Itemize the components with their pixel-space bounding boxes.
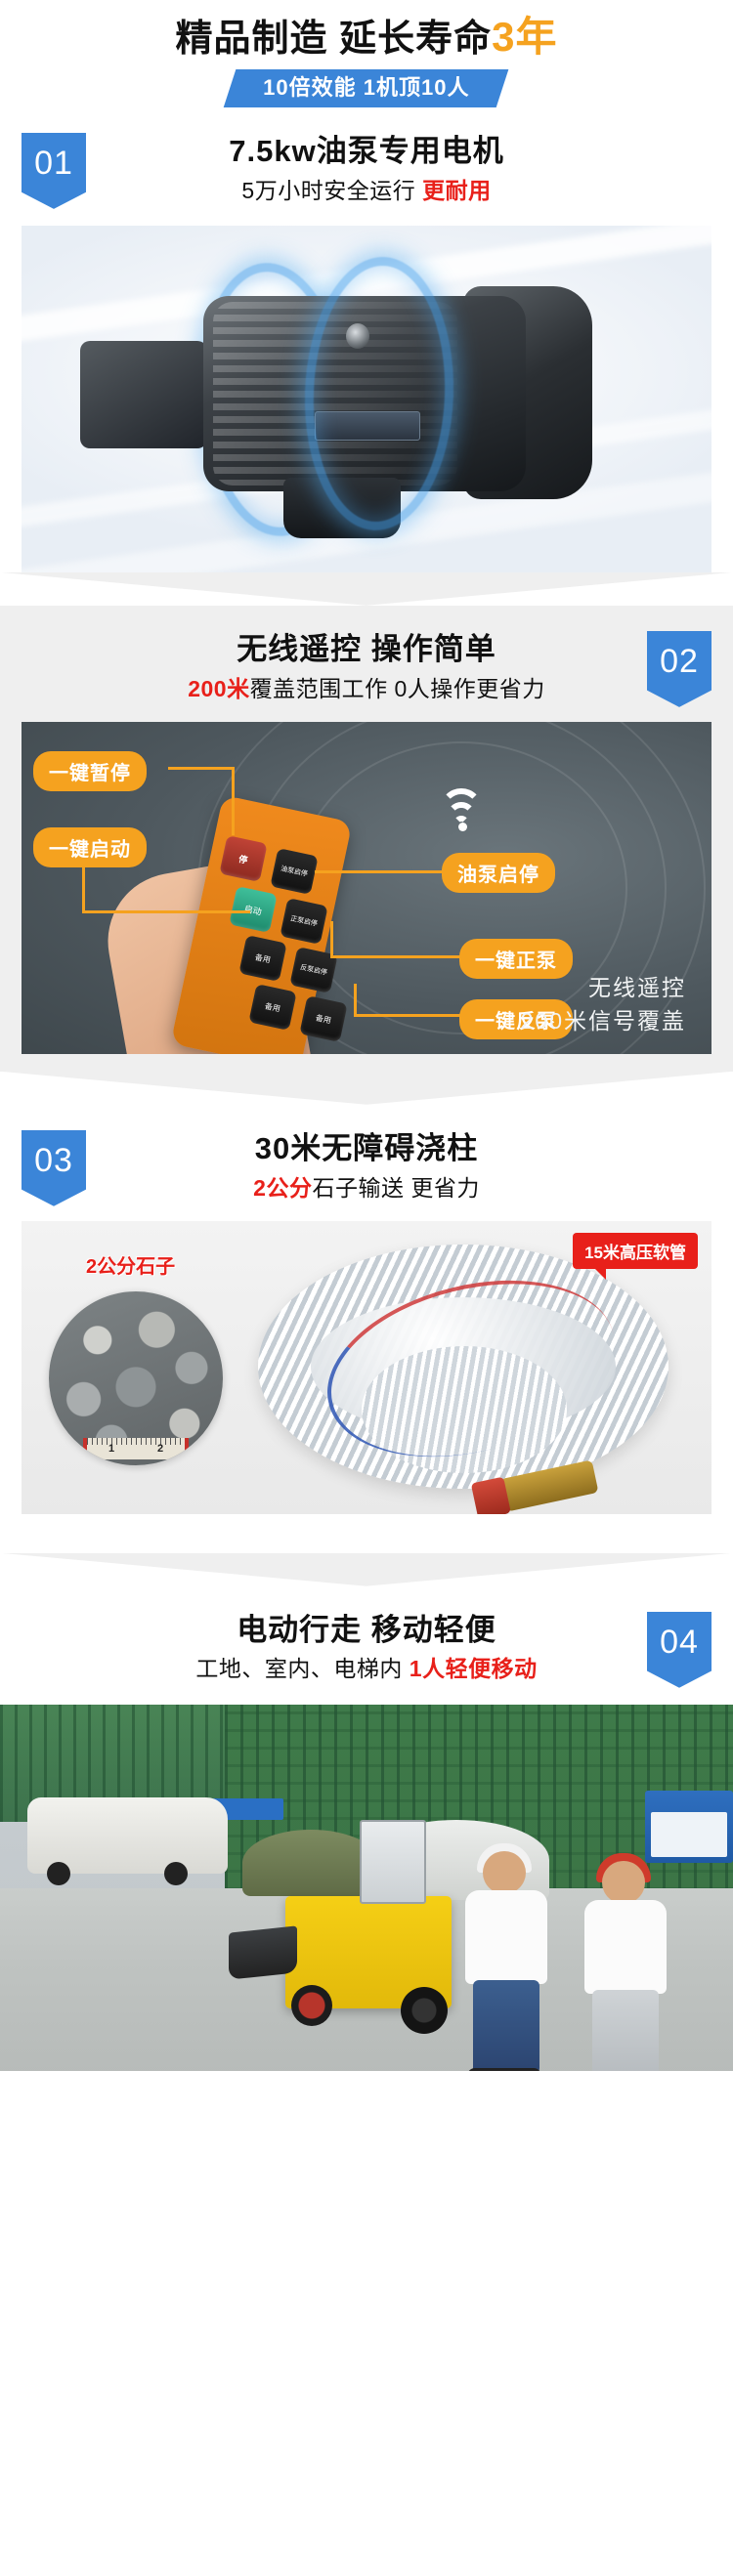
worker-operator <box>459 1851 553 2071</box>
remote-button-pump-toggle[interactable]: 油泵启停 <box>270 848 318 895</box>
section-divider-chevron <box>0 1072 733 1105</box>
worker-torso <box>584 1900 667 1994</box>
callout-lead-line <box>82 910 250 913</box>
motor-pump-head <box>80 341 207 448</box>
section-01-head: 01 7.5kw油泵专用电机 5万小时安全运行 更耐用 <box>0 107 733 220</box>
pump-wheel <box>401 1987 448 2034</box>
worker-head <box>602 1861 645 1904</box>
callout-lead-line <box>168 767 235 770</box>
motor-photo <box>22 226 711 572</box>
section-03-heading: 30米无障碍浇柱 <box>0 1130 733 1168</box>
hose-callout-badge: 15米高压软管 <box>573 1233 698 1269</box>
section-02: 02 无线遥控 操作简单 200米覆盖范围工作 0人操作更省力 停 油泵启停 启… <box>0 606 733 1072</box>
section-02-subheading: 200米覆盖范围工作 0人操作更省力 <box>0 673 733 704</box>
remote-button-spare-1[interactable]: 备用 <box>238 935 286 982</box>
section-02-sub-red: 200米 <box>188 676 249 701</box>
callout-lead-line <box>354 1014 463 1017</box>
callout-lead-line <box>330 955 461 958</box>
section-01-sub-red: 更耐用 <box>422 178 492 203</box>
covered-vehicle-green <box>242 1830 379 1896</box>
callout-lead-line <box>82 866 85 913</box>
section-01-sub-prefix: 5万小时安全运行 <box>241 178 422 203</box>
page-title: 精品制造 延长寿命3年 <box>0 14 733 62</box>
safety-sign-board <box>645 1791 733 1863</box>
section-03-subheading: 2公分石子输送 更省力 <box>0 1172 733 1204</box>
gravel-label: 2公分石子 <box>86 1250 175 1279</box>
section-01-heading: 7.5kw油泵专用电机 <box>0 133 733 171</box>
worker-bystander <box>579 1861 672 2071</box>
page-title-main: 精品制造 延长寿命 <box>176 19 493 60</box>
remote-overlay-line-1: 无线遥控 <box>521 971 686 1005</box>
section-01: 01 7.5kw油泵专用电机 5万小时安全运行 更耐用 <box>0 107 733 572</box>
section-02-heading: 无线遥控 操作简单 <box>0 631 733 669</box>
section-04-subheading: 工地、室内、电梯内 1人轻便移动 <box>0 1653 733 1684</box>
wifi-signal-icon <box>440 782 495 831</box>
callout-lead-line <box>330 921 333 958</box>
callout-pause: 一键暂停 <box>33 751 147 791</box>
section-04-heading: 电动行走 移动轻便 <box>0 1612 733 1650</box>
remote-button-start[interactable]: 启动 <box>229 886 277 933</box>
remote-button-spare-2[interactable]: 备用 <box>248 984 296 1031</box>
section-02-head: 02 无线遥控 操作简单 200米覆盖范围工作 0人操作更省力 <box>0 606 733 718</box>
callout-lead-line <box>232 767 235 835</box>
page-title-accent: 3年 <box>492 14 557 60</box>
ruler-scale: 1 2 <box>83 1438 189 1459</box>
remote-button-forward-pump[interactable]: 正泵启停 <box>280 898 327 945</box>
section-03-head: 03 30米无障碍浇柱 2公分石子输送 更省力 <box>0 1105 733 1217</box>
header-banner-label: 10倍效能 1机顶10人 <box>264 76 470 100</box>
product-detail-page: 精品制造 延长寿命3年 10倍效能 1机顶10人 01 7.5kw油泵专用电机 … <box>0 0 733 2576</box>
ruler-mark-1: 1 <box>108 1443 114 1455</box>
section-04-sub-prefix: 工地、室内、电梯内 <box>195 1656 409 1681</box>
section-03-sub-suffix: 石子输送 更省力 <box>312 1175 479 1201</box>
section-divider-chevron <box>0 1553 733 1586</box>
worker-head <box>483 1851 526 1894</box>
pump-wheel <box>291 1985 332 2026</box>
section-04-sub-red: 1人轻便移动 <box>410 1656 538 1681</box>
gravel-sample-image: 1 2 <box>49 1291 223 1465</box>
section-02-sub-suffix: 覆盖范围工作 0人操作更省力 <box>250 676 545 701</box>
construction-site-photo <box>0 1705 733 2071</box>
remote-overlay-text: 无线遥控 200米信号覆盖 <box>521 971 686 1038</box>
worker-torso <box>465 1890 547 1984</box>
remote-button-stop[interactable]: 停 <box>219 835 267 882</box>
header-banner-wrap: 10倍效能 1机顶10人 <box>0 69 733 107</box>
remote-control-photo: 停 油泵启停 启动 正泵启停 备用 反泵启停 备用 备用 一键暂停 一键启动 油… <box>22 722 711 1054</box>
remote-overlay-line-2: 200米信号覆盖 <box>521 1004 686 1038</box>
ruler-mark-2: 2 <box>157 1443 163 1455</box>
concrete-pump-machine <box>285 1896 452 2008</box>
worker-legs <box>592 1990 659 2071</box>
callout-start: 一键启动 <box>33 827 147 867</box>
section-04-head: 04 电动行走 移动轻便 工地、室内、电梯内 1人轻便移动 <box>0 1586 733 1699</box>
section-04: 04 电动行走 移动轻便 工地、室内、电梯内 1人轻便移动 <box>0 1586 733 2071</box>
section-divider-chevron <box>0 572 733 606</box>
section-03: 03 30米无障碍浇柱 2公分石子输送 更省力 15米高压软管 2公分石子 1 … <box>0 1105 733 1553</box>
section-01-subheading: 5万小时安全运行 更耐用 <box>0 175 733 206</box>
worker-shoes <box>467 2068 541 2071</box>
remote-button-spare-3[interactable]: 备用 <box>299 995 347 1042</box>
header-banner: 10倍效能 1机顶10人 <box>224 69 509 107</box>
callout-lead-line <box>354 984 357 1017</box>
callout-pump-toggle: 油泵启停 <box>442 853 555 893</box>
hose-photo: 15米高压软管 2公分石子 1 2 <box>22 1221 711 1514</box>
worker-legs <box>473 1980 539 2071</box>
section-03-sub-red: 2公分 <box>253 1175 312 1201</box>
page-header: 精品制造 延长寿命3年 10倍效能 1机顶10人 <box>0 0 733 107</box>
parked-van <box>27 1797 228 1874</box>
callout-lead-line <box>315 870 442 873</box>
pump-hopper <box>229 1925 297 1979</box>
